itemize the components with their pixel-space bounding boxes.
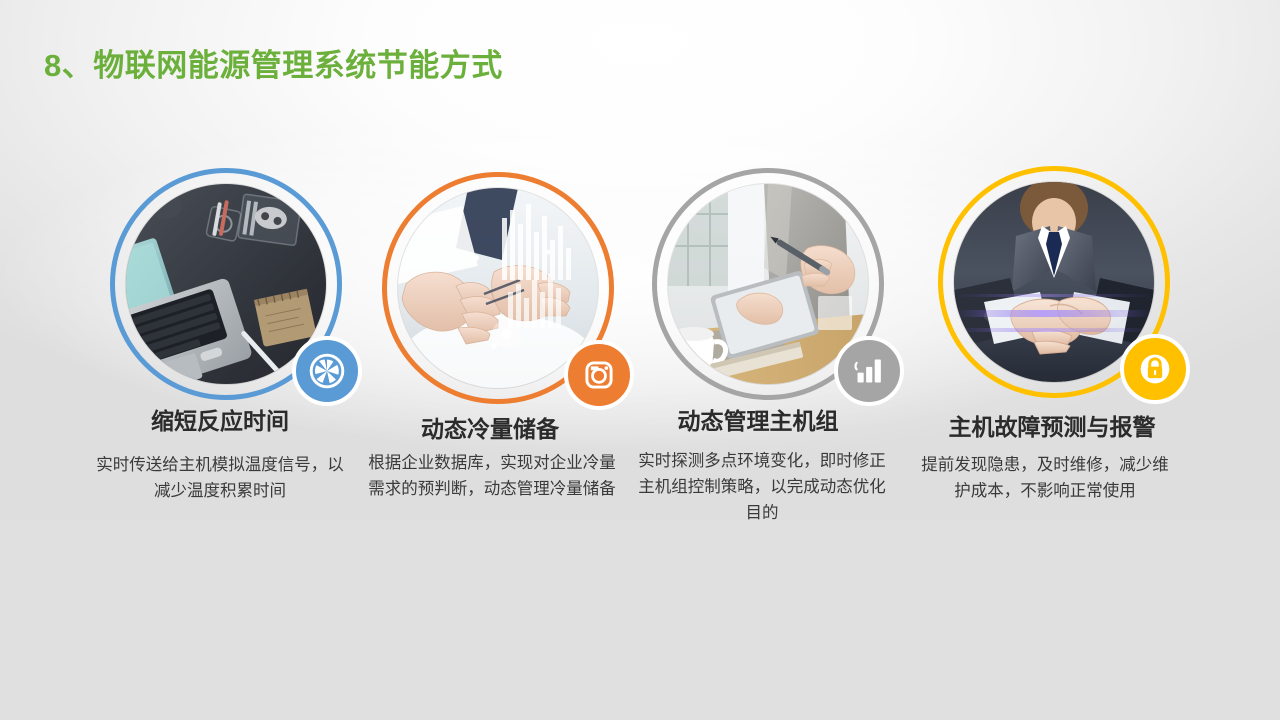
lock-badge-4[interactable] <box>1120 334 1190 404</box>
circle-graphic-4 <box>938 166 1170 398</box>
lock-icon <box>1134 348 1176 390</box>
circle-graphic-2 <box>382 172 614 404</box>
camera-icon <box>580 356 618 394</box>
feature-body-2: 根据企业数据库，实现对企业冷量需求的预判断，动态管理冷量储备 <box>367 450 617 502</box>
feature-heading-2: 动态冷量储备 <box>340 410 640 444</box>
bar-chart-badge-3[interactable] <box>834 336 904 406</box>
page-title: 8、物联网能源管理系统节能方式 <box>44 40 503 85</box>
camera-badge-2[interactable] <box>564 340 634 410</box>
slide-canvas: 8、物联网能源管理系统节能方式 <box>0 0 1280 720</box>
circle-graphic-3 <box>652 168 884 400</box>
feature-heading-3: 动态管理主机组 <box>608 402 908 436</box>
feature-heading-1: 缩短反应时间 <box>70 402 370 436</box>
aperture-icon <box>307 351 347 391</box>
circle-graphic-1 <box>110 168 342 400</box>
bar-chart-icon <box>851 353 887 389</box>
feature-body-1: 实时传送给主机模拟温度信号，以减少温度积累时间 <box>95 452 345 504</box>
background-lower-band <box>0 520 1280 720</box>
aperture-badge-1[interactable] <box>292 336 362 406</box>
feature-heading-4: 主机故障预测与报警 <box>902 408 1202 442</box>
feature-body-3: 实时探测多点环境变化，即时修正主机组控制策略，以完成动态优化目的 <box>637 448 887 526</box>
feature-body-4: 提前发现隐患，及时维修，减少维护成本，不影响正常使用 <box>920 452 1170 504</box>
